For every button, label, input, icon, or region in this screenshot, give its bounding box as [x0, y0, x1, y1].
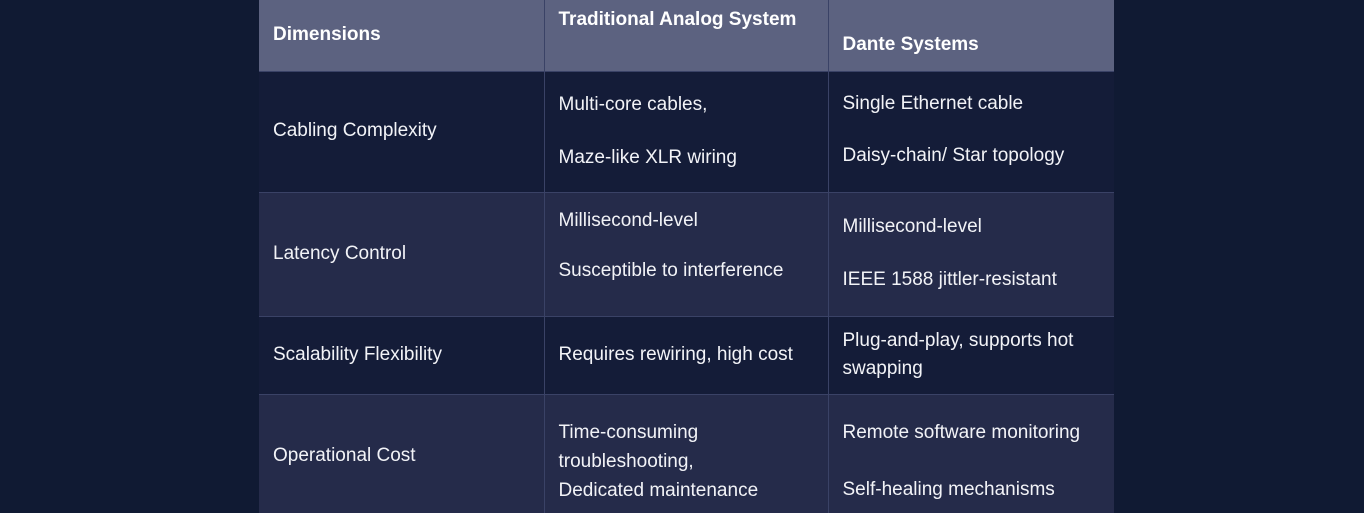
column-header-dante-systems[interactable]: Dante Systems — [828, 0, 1114, 71]
table-row: Operational Cost Time-consuming troubles… — [259, 395, 1114, 513]
cell-line: Daisy-chain/ Star topology — [843, 142, 1101, 171]
cell-line: Self-healing mechanisms — [843, 476, 1101, 505]
table-header: Dimensions Traditional Analog System Dan… — [259, 0, 1114, 71]
cell-dimension: Latency Control — [259, 192, 544, 316]
table-row: Cabling Complexity Multi-core cables, Ma… — [259, 71, 1114, 192]
cell-line: Millisecond-level — [559, 207, 814, 236]
table-row: Latency Control Millisecond-level Suscep… — [259, 192, 1114, 316]
cell-dante: Plug-and-play, supports hot swapping — [828, 316, 1114, 395]
table-row: Scalability Flexibility Requires rewirin… — [259, 316, 1114, 395]
cell-dante: Millisecond-level IEEE 1588 jittler-resi… — [828, 192, 1114, 316]
column-header-traditional-analog-system[interactable]: Traditional Analog System — [544, 0, 828, 71]
cell-line: Dedicated maintenance — [559, 477, 814, 506]
cell-line: Multi-core cables, — [559, 91, 814, 120]
cell-analog: Requires rewiring, high cost — [544, 316, 828, 395]
cell-analog: Multi-core cables, Maze-like XLR wiring — [544, 71, 828, 192]
cell-analog: Time-consuming troubleshooting, Dedicate… — [544, 395, 828, 513]
cell-line: Maze-like XLR wiring — [559, 144, 814, 173]
cell-line: Susceptible to interference — [559, 257, 814, 286]
cell-dante: Remote software monitoring Self-healing … — [828, 395, 1114, 513]
cell-dimension: Cabling Complexity — [259, 71, 544, 192]
column-header-dimensions[interactable]: Dimensions — [259, 0, 544, 71]
cell-line: IEEE 1588 jittler-resistant — [843, 266, 1101, 295]
table-body: Cabling Complexity Multi-core cables, Ma… — [259, 71, 1114, 513]
cell-dante: Single Ethernet cable Daisy-chain/ Star … — [828, 71, 1114, 192]
cell-line: Single Ethernet cable — [843, 90, 1101, 119]
cell-dimension: Scalability Flexibility — [259, 316, 544, 395]
cell-line: Time-consuming troubleshooting, — [559, 419, 814, 477]
cell-analog: Millisecond-level Susceptible to interfe… — [544, 192, 828, 316]
cell-line: Plug-and-play, supports hot swapping — [843, 327, 1101, 385]
cell-line: Remote software monitoring — [843, 419, 1101, 448]
page-root: Dimensions Traditional Analog System Dan… — [0, 0, 1364, 513]
comparison-table: Dimensions Traditional Analog System Dan… — [259, 0, 1114, 513]
cell-dimension: Operational Cost — [259, 395, 544, 513]
cell-line: Millisecond-level — [843, 213, 1101, 242]
cell-line: Requires rewiring, high cost — [559, 341, 814, 370]
table-header-row: Dimensions Traditional Analog System Dan… — [259, 0, 1114, 71]
